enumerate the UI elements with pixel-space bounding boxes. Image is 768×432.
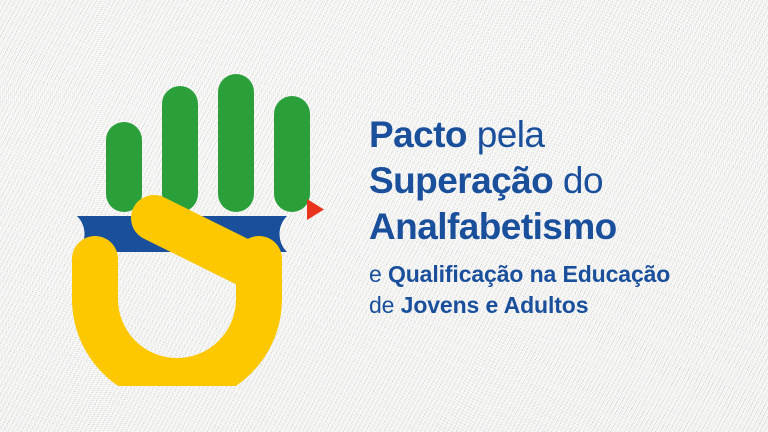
wordmark-line-2-rest: do (553, 160, 603, 201)
wordmark-line-5: de Jovens e Adultos (369, 290, 729, 321)
wordmark-line-4-bold: Qualificação na Educação (388, 261, 670, 287)
red-play-arrow (307, 199, 324, 220)
wordmark-line-3-bold: Analfabetismo (369, 206, 617, 247)
wordmark-line-4: e Qualificação na Educação (369, 259, 729, 290)
finger-3-bar (218, 74, 254, 212)
finger-1-bar (106, 122, 142, 212)
wordmark-line-3: Analfabetismo (369, 204, 729, 250)
poster-canvas: Pacto pela Superação do Analfabetismo e … (0, 0, 768, 432)
wordmark-line-5-bold: Jovens e Adultos (401, 292, 589, 318)
wordmark-line-1: Pacto pela (369, 112, 729, 158)
logo-green-fingers (106, 74, 310, 212)
finger-2-bar (162, 86, 198, 212)
wordmark: Pacto pela Superação do Analfabetismo e … (369, 112, 729, 321)
wordmark-line-1-rest: pela (467, 114, 544, 155)
wordmark-line-2-bold: Superação (369, 160, 553, 201)
wordmark-line-1-bold: Pacto (369, 114, 467, 155)
wordmark-line-4-prefix: e (369, 261, 388, 287)
pacto-hand-logo (62, 56, 342, 386)
wordmark-line-5-prefix: de (369, 292, 401, 318)
wordmark-line-2: Superação do (369, 158, 729, 204)
finger-4-bar (274, 96, 310, 212)
